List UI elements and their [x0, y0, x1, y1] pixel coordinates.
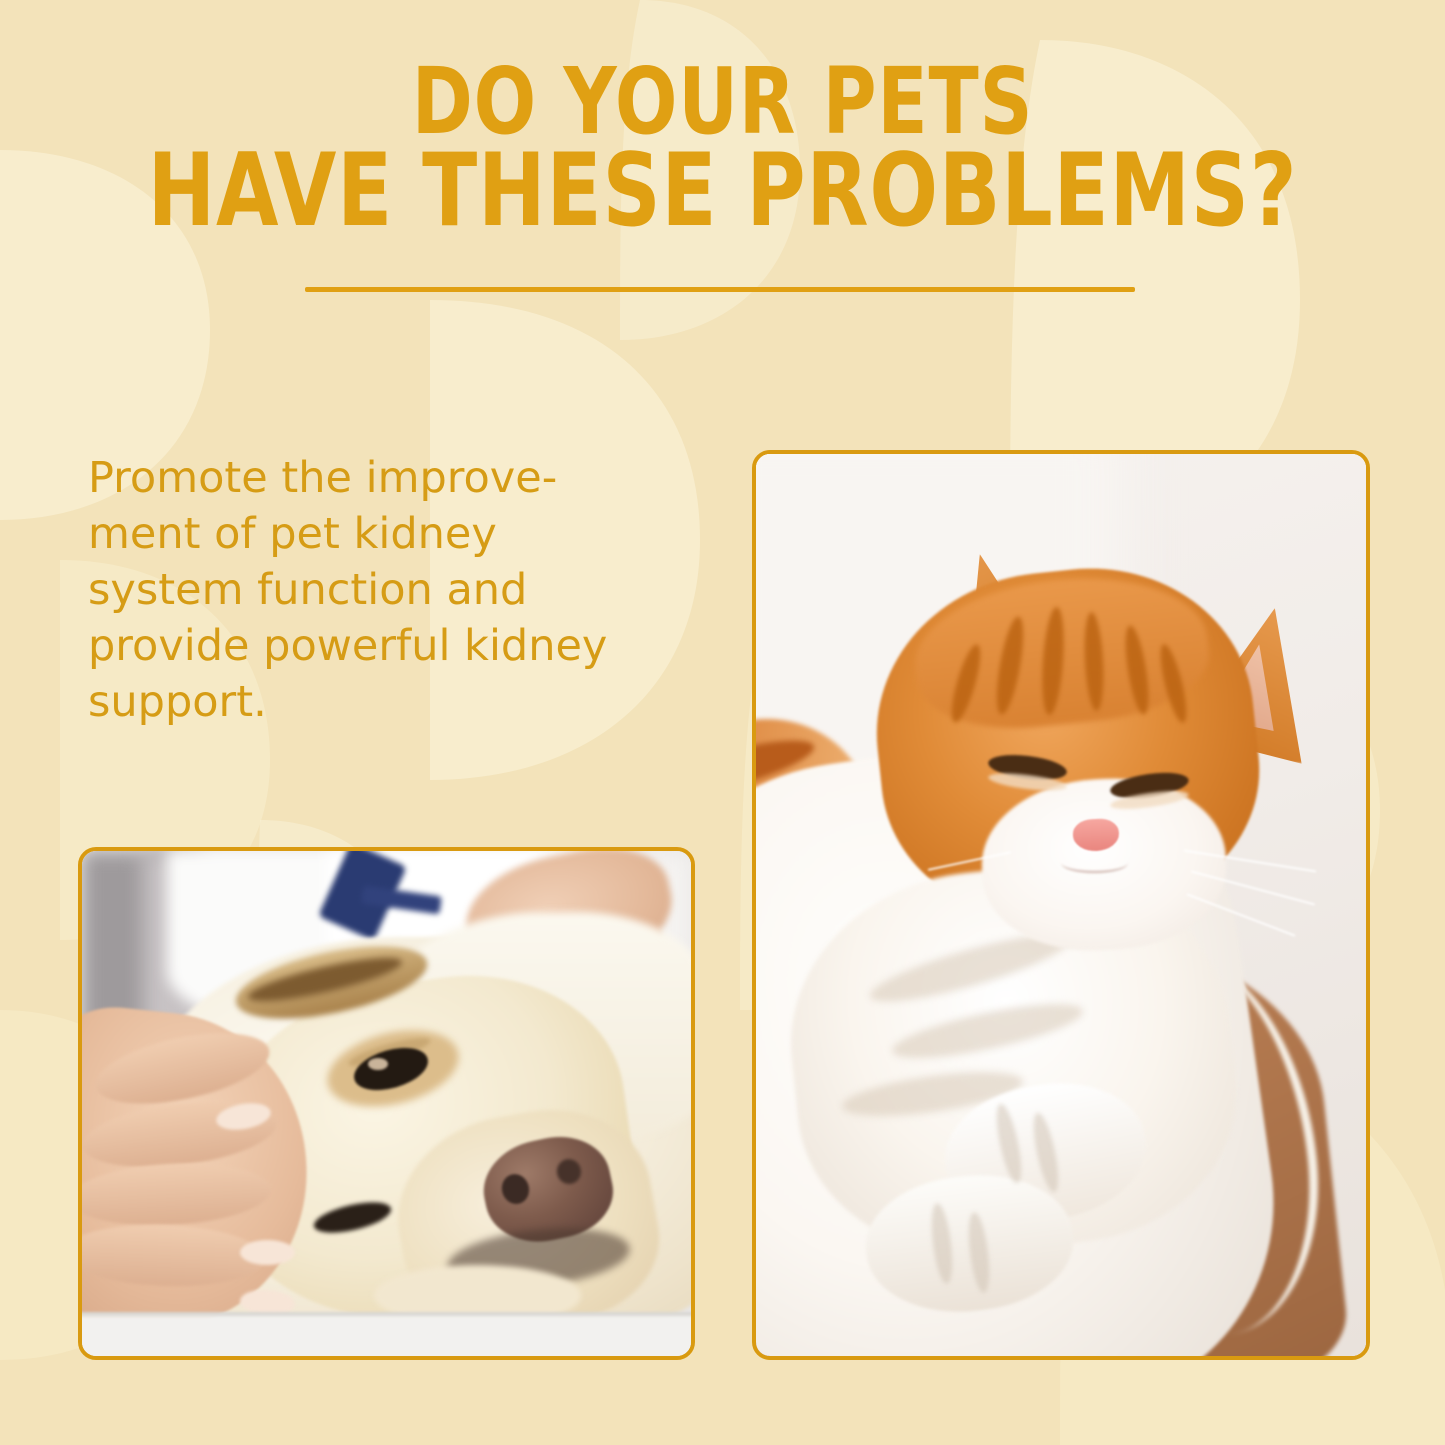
poster-root: DO YOUR PETS HAVE THESE PROBLEMS? Promot… [0, 0, 1445, 1445]
headline-line-2: HAVE THESE PROBLEMS? [145, 142, 1301, 239]
dog-photo-scene [82, 851, 691, 1356]
dog-photo [78, 847, 695, 1360]
cat-photo-scene [756, 454, 1366, 1356]
cat-photo [752, 450, 1370, 1360]
headline-underline [305, 287, 1135, 292]
body-paragraph: Promote the improve- ment of pet kidney … [88, 451, 698, 730]
page-title: DO YOUR PETS HAVE THESE PROBLEMS? [0, 58, 1445, 239]
